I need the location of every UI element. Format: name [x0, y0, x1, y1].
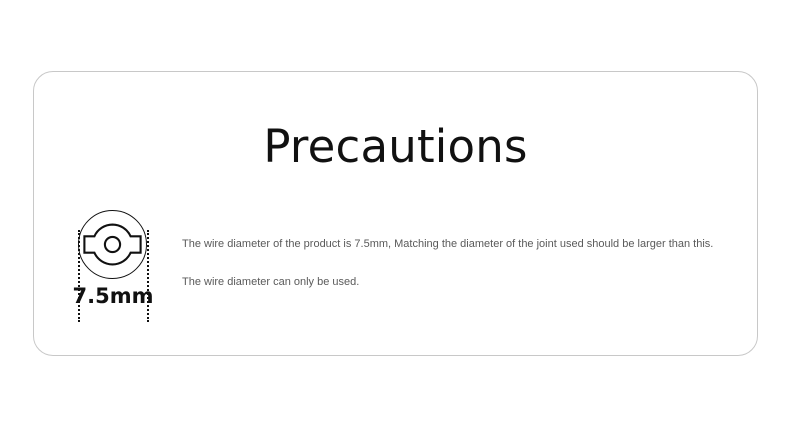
- page-title: Precautions: [34, 124, 757, 169]
- connector-cross-section-icon: [78, 210, 147, 279]
- precaution-line-2: The wire diameter can only be used.: [182, 275, 722, 290]
- wire-diameter-diagram: 7.5mm: [69, 202, 179, 322]
- measurement-guide-line-right: [147, 230, 149, 322]
- wire-diameter-measurement-label: 7.5mm: [69, 286, 157, 307]
- precautions-card: Precautions 7.5mm The wire diameter of t…: [33, 71, 758, 356]
- precautions-body: The wire diameter of the product is 7.5m…: [182, 237, 722, 291]
- precaution-line-1: The wire diameter of the product is 7.5m…: [182, 237, 722, 252]
